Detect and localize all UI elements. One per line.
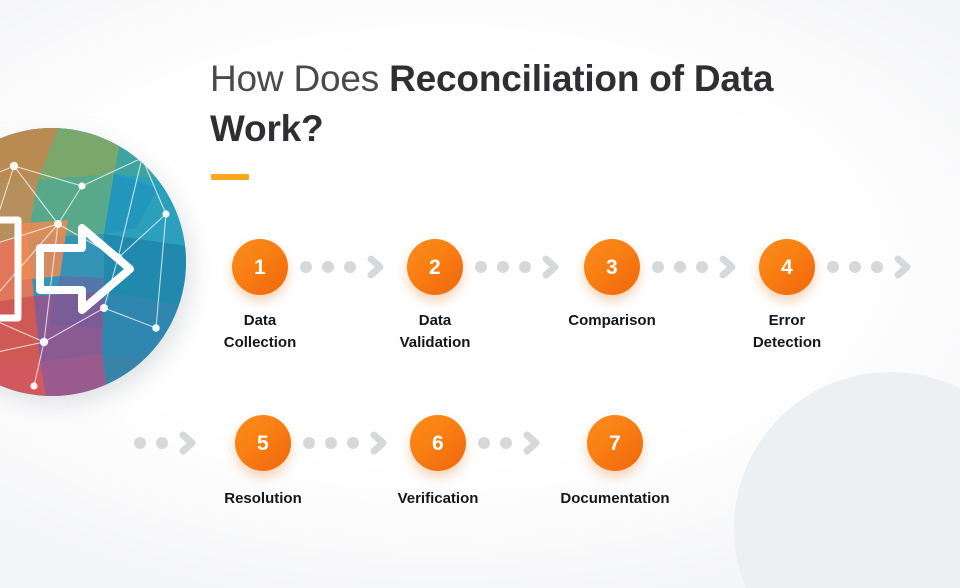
step-label-5: Resolution [189,488,337,510]
infographic-canvas: How Does Reconciliation of Data Work? 1 … [0,0,960,588]
connector-dot [322,261,334,273]
connector-dot [674,261,686,273]
flow-step-7[interactable]: 7 [582,410,648,476]
chevron-right-icon [366,255,385,279]
connector-dot [696,261,708,273]
connector-5-to-6 [303,432,388,454]
connector-3-to-4 [652,256,737,278]
flow-step-5[interactable]: 5 [230,410,296,476]
flow-step-6[interactable]: 6 [405,410,471,476]
step-number-5: 5 [257,433,269,454]
connector-dot [652,261,664,273]
connector-dot [519,261,531,273]
step-number-badge-2: 2 [407,239,463,295]
step-number-badge-3: 3 [584,239,640,295]
step-number-6: 6 [432,433,444,454]
connector-dot [134,437,146,449]
connector-dot [475,261,487,273]
chevron-right-icon [522,431,541,455]
step-label-2: Data Validation [361,310,509,354]
step-label-3: Comparison [538,310,686,332]
flow-row-2: 5 Resolution 6 Verification 7 [0,410,960,530]
step-number-badge-4: 4 [759,239,815,295]
step-label-7: Documentation [541,488,689,510]
connector-row2-leading [134,432,197,454]
connector-dot [827,261,839,273]
flow-step-4[interactable]: 4 [754,234,820,300]
connector-row1-trailing [827,256,912,278]
page-title-light: How Does [210,58,389,99]
connector-dot [500,437,512,449]
chevron-right-icon [541,255,560,279]
connector-dot [478,437,490,449]
title-accent-bar [211,174,249,180]
step-number-4: 4 [781,257,793,278]
flow-step-3[interactable]: 3 [579,234,645,300]
chevron-right-icon [369,431,388,455]
step-number-1: 1 [254,257,266,278]
flow-step-2[interactable]: 2 [402,234,468,300]
step-number-7: 7 [609,433,621,454]
connector-dot [344,261,356,273]
chevron-right-icon [178,431,197,455]
step-label-6: Verification [364,488,512,510]
connector-2-to-3 [475,256,560,278]
step-label-4: Error Detection [713,310,861,354]
connector-dot [871,261,883,273]
step-number-3: 3 [606,257,618,278]
connector-dot [156,437,168,449]
page-title: How Does Reconciliation of Data Work? [210,54,870,154]
flow-step-1[interactable]: 1 [227,234,293,300]
step-number-badge-5: 5 [235,415,291,471]
flow-row-1: 1 Data Collection 2 Data Validation 3 [0,234,960,364]
chevron-right-icon [893,255,912,279]
step-number-badge-6: 6 [410,415,466,471]
connector-dot [325,437,337,449]
connector-dot [849,261,861,273]
connector-1-to-2 [300,256,385,278]
connector-dot [347,437,359,449]
connector-dot [303,437,315,449]
chevron-right-icon [718,255,737,279]
step-number-badge-1: 1 [232,239,288,295]
connector-dot [300,261,312,273]
step-number-badge-7: 7 [587,415,643,471]
connector-dot [497,261,509,273]
connector-6-to-7 [478,432,541,454]
step-number-2: 2 [429,257,441,278]
step-label-1: Data Collection [186,310,334,354]
